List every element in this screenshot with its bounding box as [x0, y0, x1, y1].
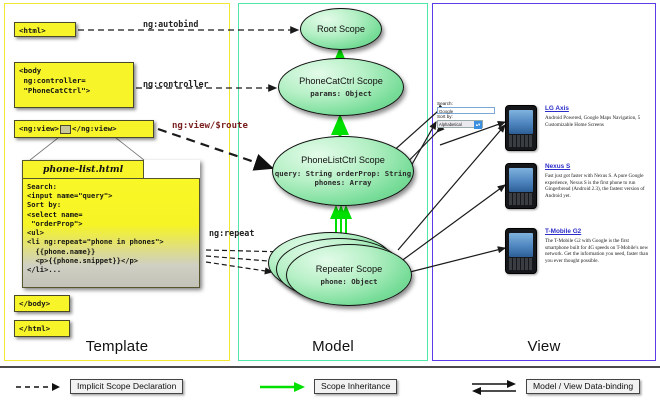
view-search-form: Search: Google Sort by: Alphabetical▴▾ [437, 101, 499, 128]
label-ng-repeat: ng:repeat [209, 228, 254, 238]
scope-repeater: Repeater Scope phone: Object [286, 244, 412, 306]
scope-root-name: Root Scope [317, 24, 365, 34]
phone-description: The T-Mobile G2 with Google is the first… [545, 238, 651, 264]
ngview-close-label: </ng:view> [72, 124, 117, 133]
phone-thumbnail-icon [505, 163, 537, 209]
close-body-tag-box: </body> [14, 295, 70, 312]
column-template-label: Template [5, 338, 229, 355]
scope-phonelistctrl-props: query: String orderProp: String phones: … [273, 169, 413, 187]
phone-name-link[interactable]: T-Mobile G2 [545, 228, 651, 236]
phone-list-card-title: phone-list.html [22, 160, 144, 179]
legend-item-data-binding: Model / View Data-binding [470, 377, 640, 396]
html-tag-box: <html> [14, 22, 76, 37]
legend-label-implicit-scope: Implicit Scope Declaration [70, 379, 183, 394]
phone-keyboard [509, 258, 533, 270]
scope-phonelistctrl: PhoneListCtrl Scope query: String orderP… [272, 136, 414, 206]
close-html-tag-box: </html> [14, 320, 70, 337]
ngview-tag-box: <ng:view></ng:view> [14, 120, 154, 138]
phone-keyboard [509, 135, 533, 147]
double-arrow-icon [470, 379, 518, 395]
ngview-open-label: <ng:view> [19, 124, 59, 133]
label-ng-view-route: ng:view/$route [172, 121, 248, 131]
legend-item-scope-inheritance: Scope Inheritance [258, 377, 397, 396]
phone-name-link[interactable]: LG Axis [545, 105, 651, 113]
phone-name-link[interactable]: Nexus S [545, 163, 651, 171]
scope-phonecatctrl-props: params: Object [310, 89, 372, 98]
phone-text: LG Axis Android Powered, Google Maps Nav… [545, 105, 651, 128]
scope-phonecatctrl-name: PhoneCatCtrl Scope [299, 76, 383, 86]
column-model-label: Model [239, 338, 427, 355]
dashed-arrow-icon [14, 380, 62, 394]
ngview-slot-icon [60, 125, 71, 134]
phone-screen [509, 110, 533, 134]
phone-thumbnail-icon [505, 105, 537, 151]
body-tag-box: <body ng:controller= "PhoneCatCtrl"> [14, 62, 134, 108]
scope-phonelistctrl-name: PhoneListCtrl Scope [301, 155, 385, 165]
green-arrow-icon [258, 380, 306, 394]
legend-label-scope-inheritance: Scope Inheritance [314, 379, 397, 394]
phone-screen [509, 168, 533, 192]
sort-select-value: Alphabetical [439, 122, 462, 127]
phone-description: Fast just got faster with Nexus S. A pur… [545, 173, 651, 199]
legend: Implicit Scope Declaration Scope Inherit… [0, 366, 660, 407]
diagram-canvas: Template Model View [0, 0, 660, 405]
phone-text: Nexus S Fast just got faster with Nexus … [545, 163, 651, 199]
sort-select[interactable]: Alphabetical▴▾ [437, 120, 483, 128]
label-ng-controller: ng:controller [143, 79, 209, 89]
scope-phonecatctrl: PhoneCatCtrl Scope params: Object [278, 58, 404, 116]
phone-keyboard [509, 193, 533, 205]
phone-thumbnail-icon [505, 228, 537, 274]
phone-text: T-Mobile G2 The T-Mobile G2 with Google … [545, 228, 651, 264]
scope-root: Root Scope [300, 8, 382, 50]
search-input[interactable]: Google [437, 107, 495, 114]
phone-description: Android Powered, Google Maps Navigation,… [545, 115, 651, 128]
label-ng-autobind: ng:autobind [143, 19, 198, 29]
column-view-label: View [433, 338, 655, 355]
scope-repeater-name: Repeater Scope [316, 264, 382, 274]
phone-list-card-code: Search: <input name="query"> Sort by: <s… [22, 178, 200, 288]
phone-list-template-card: phone-list.html Search: <input name="que… [22, 160, 200, 288]
scope-repeater-props: phone: Object [320, 277, 377, 286]
legend-item-implicit-scope: Implicit Scope Declaration [14, 377, 183, 396]
phone-screen [509, 233, 533, 257]
chevron-updown-icon: ▴▾ [474, 121, 482, 129]
legend-label-data-binding: Model / View Data-binding [526, 379, 640, 394]
